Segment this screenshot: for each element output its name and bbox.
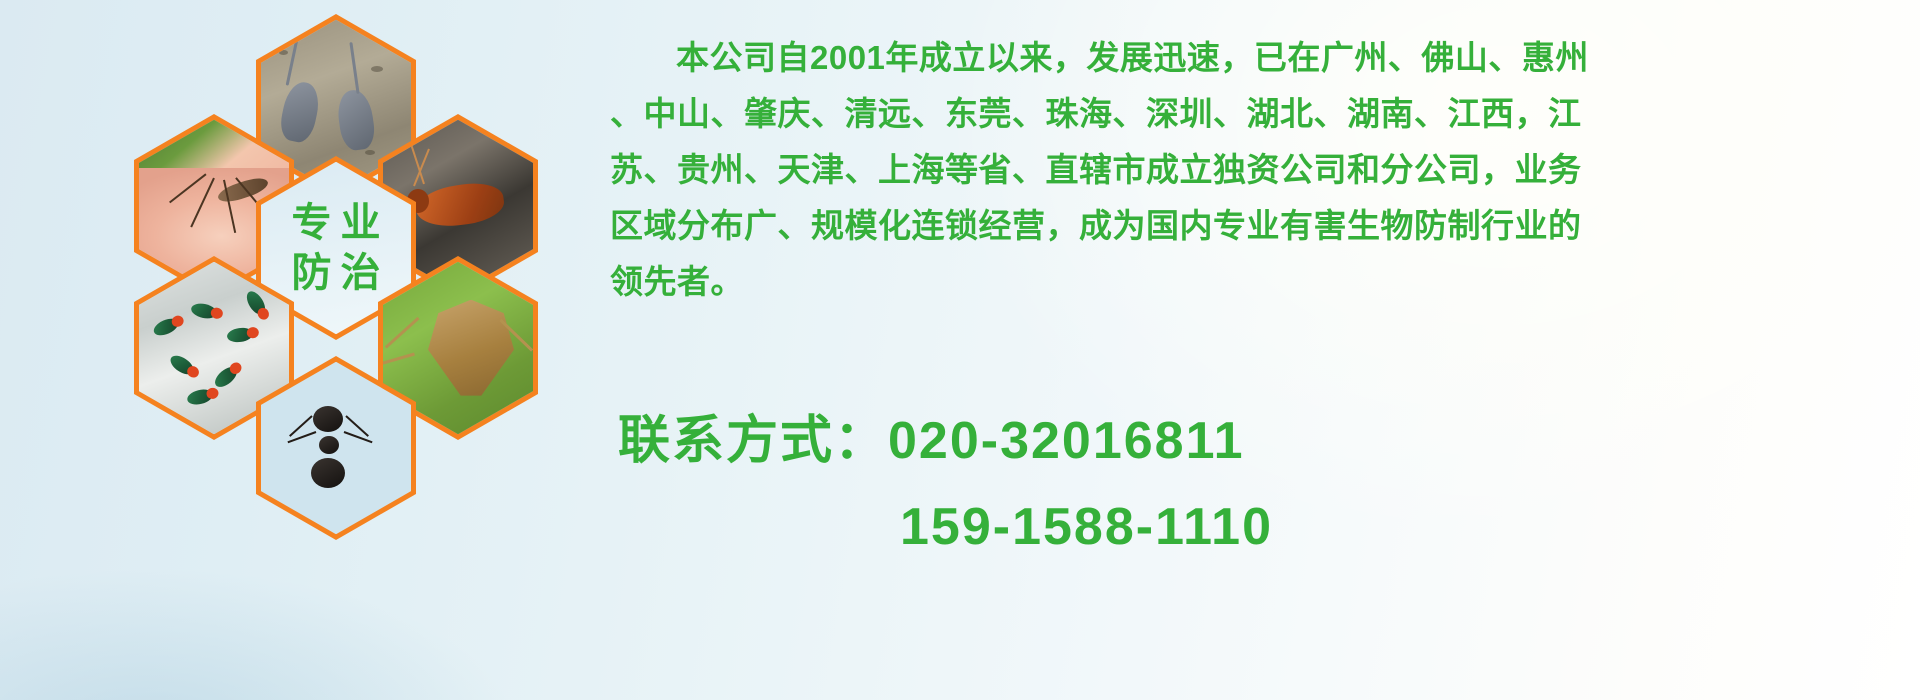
intro-line-3: 苏、贵州、天津、上海等省、直辖市成立独资公司和分公司，业务 bbox=[610, 142, 1900, 198]
logo-line-2: 防治 bbox=[283, 253, 390, 293]
ant-image bbox=[261, 362, 411, 535]
intro-line-5: 领先者。 bbox=[610, 254, 1900, 310]
company-intro: 本公司自2001年成立以来，发展迅速，已在广州、佛山、惠州 、中山、肇庆、清远、… bbox=[610, 30, 1900, 310]
intro-line-1: 本公司自2001年成立以来，发展迅速，已在广州、佛山、惠州 bbox=[610, 30, 1900, 86]
contact-block: 联系方式：020-32016811 159-1588-1110 bbox=[618, 398, 1898, 570]
honeycomb-gallery: 专业 防治 bbox=[88, 8, 588, 553]
contact-phone-mobile[interactable]: 159-1588-1110 bbox=[618, 484, 1898, 570]
logo-line-1: 专业 bbox=[283, 203, 390, 243]
ant-photo-inner bbox=[261, 362, 411, 535]
intro-line-2: 、中山、肇庆、清远、东莞、珠海、深圳、湖北、湖南、江西，江 bbox=[610, 86, 1900, 142]
contact-phone-landline[interactable]: 联系方式：020-32016811 bbox=[618, 398, 1898, 484]
promo-banner: 专业 防治 bbox=[0, 0, 1920, 700]
intro-line-4: 区域分布广、规模化连锁经营，成为国内专业有害生物防制行业的 bbox=[610, 198, 1900, 254]
